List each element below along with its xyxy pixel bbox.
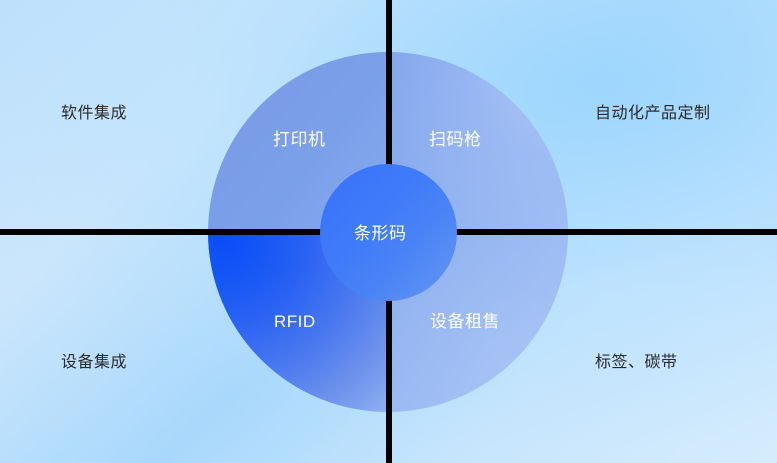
quadrant-label-automation-customized: 自动化产品定制 bbox=[595, 106, 711, 122]
ring-label-scanner: 扫码枪 bbox=[429, 131, 482, 148]
quadrant-label-software-integration: 软件集成 bbox=[61, 106, 127, 122]
diagram-canvas: 条形码 打印机 扫码枪 RFID 设备租售 软件集成 自动化产品定制 设备集成 … bbox=[0, 0, 777, 463]
quadrant-label-labels-ribbons: 标签、碳带 bbox=[595, 355, 678, 371]
ring-label-rental: 设备租售 bbox=[430, 313, 500, 330]
ring-label-printer: 打印机 bbox=[273, 131, 326, 148]
ring-label-rfid: RFID bbox=[274, 313, 316, 330]
quadrant-label-device-integration: 设备集成 bbox=[61, 355, 127, 371]
center-label-barcode: 条形码 bbox=[354, 225, 407, 242]
